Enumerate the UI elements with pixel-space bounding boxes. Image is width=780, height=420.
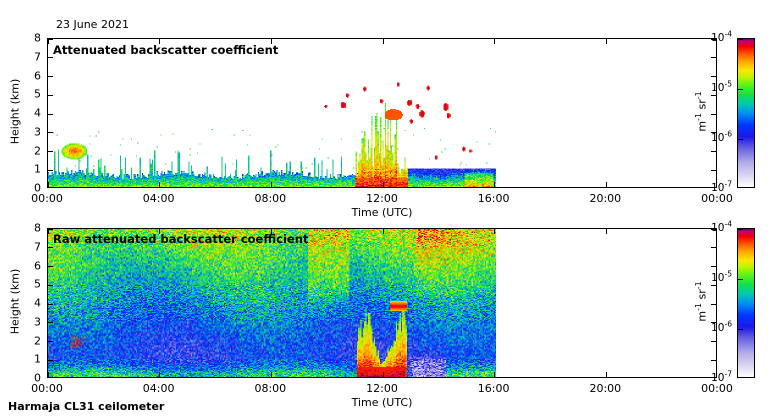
y-tick: [711, 266, 716, 267]
x-tick: [606, 372, 607, 377]
figure-date-title: 23 June 2021: [56, 18, 129, 31]
x-tick: [159, 182, 160, 187]
y-tick: [48, 170, 53, 171]
x-tick-label: 00:00: [31, 192, 63, 205]
y-tick: [711, 151, 716, 152]
y-tick: [711, 76, 716, 77]
x-tick: [383, 229, 384, 234]
y-tick: [711, 360, 716, 361]
y-tick: [48, 266, 53, 267]
colorbar-gradient-top: [738, 39, 754, 187]
colorbar-tick-label: 10-7: [700, 182, 732, 194]
panel-raw-attenuated-backscatter: Raw attenuated backscatter coefficient: [47, 228, 717, 378]
plot-area-raw-attenuated-backscatter[interactable]: [47, 228, 717, 378]
y-tick: [48, 151, 53, 152]
x-tick: [271, 372, 272, 377]
y-tick: [711, 57, 716, 58]
y-tick: [711, 114, 716, 115]
panel-attenuated-backscatter: Attenuated backscatter coefficient: [47, 38, 717, 188]
colorbar-tick: [738, 279, 743, 280]
y-tick-label: 7: [15, 50, 41, 63]
x-tick-label: 04:00: [143, 382, 175, 395]
ceilometer-figure: 23 June 2021 Attenuated backscatter coef…: [0, 0, 780, 420]
y-tick-label: 8: [15, 222, 41, 235]
y-tick: [48, 39, 53, 40]
x-tick-label: 00:00: [31, 382, 63, 395]
panel-label-raw-attenuated-backscatter: Raw attenuated backscatter coefficient: [53, 232, 308, 246]
colorbar-tick-label: 10-4: [700, 222, 732, 234]
x-tick: [271, 182, 272, 187]
x-tick: [494, 39, 495, 44]
x-tick: [606, 229, 607, 234]
x-tick-label: 20:00: [589, 192, 621, 205]
x-tick-label: 08:00: [254, 382, 286, 395]
x-tick: [48, 372, 49, 377]
x-tick: [48, 182, 49, 187]
y-tick: [48, 132, 53, 133]
colorbar-gradient-bottom: [738, 229, 754, 377]
x-tick: [383, 39, 384, 44]
y-tick: [48, 247, 53, 248]
y-tick: [711, 304, 716, 305]
y-tick-label: 7: [15, 240, 41, 253]
x-tick: [383, 182, 384, 187]
y-tick-label: 8: [15, 32, 41, 45]
colorbar-tick: [738, 89, 743, 90]
y-tick: [48, 95, 53, 96]
x-tick-label: 04:00: [143, 192, 175, 205]
y-tick: [48, 229, 53, 230]
x-axis-title: Time (UTC): [352, 396, 413, 409]
y-tick: [711, 247, 716, 248]
y-tick: [48, 360, 53, 361]
x-tick: [48, 229, 49, 234]
y-tick: [48, 322, 53, 323]
colorbar-tick: [738, 229, 743, 230]
colorbar-tick-label: 10-4: [700, 32, 732, 44]
x-tick: [606, 182, 607, 187]
figure-footer: Harmaja CL31 ceilometer: [8, 400, 164, 413]
panel-label-attenuated-backscatter: Attenuated backscatter coefficient: [53, 43, 278, 57]
y-tick: [711, 285, 716, 286]
x-tick: [494, 372, 495, 377]
y-tick: [711, 341, 716, 342]
colorbar-tick: [738, 139, 743, 140]
x-tick: [383, 372, 384, 377]
colorbar-tick: [738, 329, 743, 330]
x-axis-title: Time (UTC): [352, 206, 413, 219]
y-tick: [711, 95, 716, 96]
x-tick-label: 08:00: [254, 192, 286, 205]
y-tick: [48, 285, 53, 286]
colorbar-tick: [738, 39, 743, 40]
x-tick: [494, 229, 495, 234]
x-tick-label: 12:00: [366, 382, 398, 395]
x-tick: [606, 39, 607, 44]
x-tick-label: 16:00: [478, 192, 510, 205]
y-axis-title: Height (km): [9, 262, 22, 342]
y-tick: [48, 341, 53, 342]
colorbar-bottom: [737, 228, 755, 378]
x-tick: [159, 372, 160, 377]
colorbar-top: [737, 38, 755, 188]
plot-area-attenuated-backscatter[interactable]: [47, 38, 717, 188]
x-tick: [494, 182, 495, 187]
colorbar-title: m-1 sr-1: [696, 272, 709, 332]
x-tick-label: 16:00: [478, 382, 510, 395]
x-tick-label: 12:00: [366, 192, 398, 205]
y-tick-label: 1: [15, 163, 41, 176]
y-tick: [48, 114, 53, 115]
colorbar-title: m-1 sr-1: [696, 82, 709, 142]
colorbar-tick-label: 10-7: [700, 372, 732, 384]
y-axis-title: Height (km): [9, 72, 22, 152]
x-tick: [48, 39, 49, 44]
x-tick-label: 20:00: [589, 382, 621, 395]
y-tick: [48, 304, 53, 305]
y-tick-label: 1: [15, 353, 41, 366]
y-tick: [711, 170, 716, 171]
y-tick: [48, 57, 53, 58]
y-tick: [48, 76, 53, 77]
